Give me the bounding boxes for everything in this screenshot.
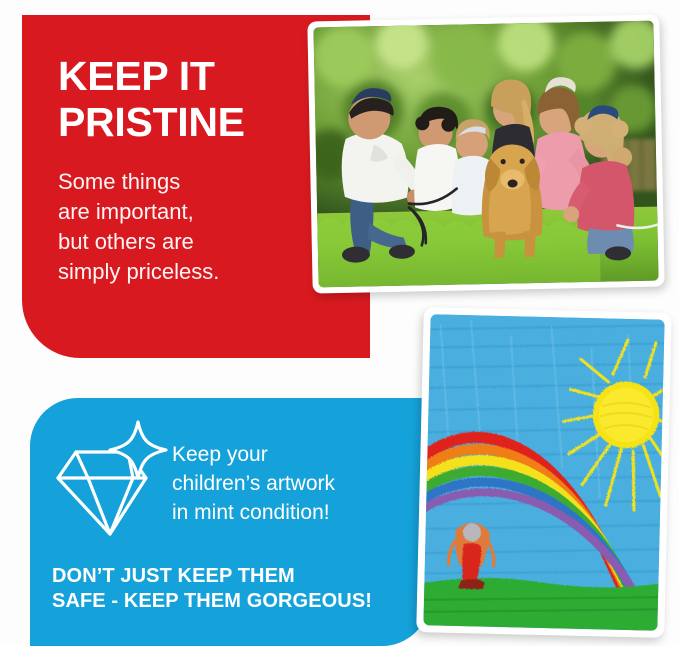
diamond-sparkle-icon (54, 416, 170, 540)
blue-feature-panel: Keep your children’s artwork in mint con… (30, 398, 430, 646)
family-with-dog-photo (307, 14, 664, 293)
drawing-image (423, 314, 664, 630)
family-photo-image (313, 21, 658, 288)
blue-panel-kicker-text: DON’T JUST KEEP THEM SAFE - KEEP THEM GO… (52, 564, 422, 614)
childrens-crayon-drawing-photo (416, 307, 672, 638)
blue-panel-body-text: Keep your children’s artwork in mint con… (172, 440, 422, 527)
red-panel-body-text: Some things are important, but others ar… (58, 167, 348, 287)
